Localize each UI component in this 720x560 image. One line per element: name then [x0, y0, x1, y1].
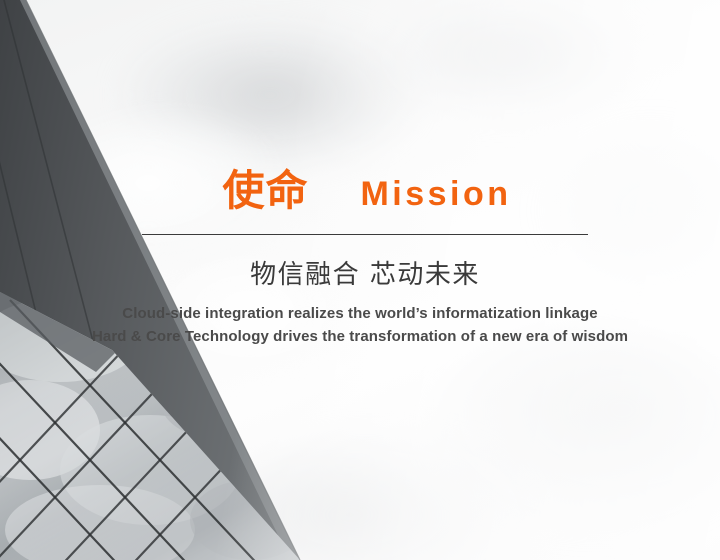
page-title: 使命 Mission	[142, 170, 592, 226]
title-divider-rule	[142, 234, 588, 235]
page-title-chinese: 使命	[222, 170, 308, 212]
tagline-block: Cloud-side integration realizes the worl…	[60, 302, 660, 348]
tagline-line-2: Hard & Core Technology drives the transf…	[60, 325, 660, 348]
page-title-english: Mission	[360, 177, 511, 211]
slide-content: 使命 Mission 物信融合 芯动未来 Cloud-side integrat…	[0, 0, 720, 560]
subtitle-chinese: 物信融合 芯动未来	[142, 258, 588, 292]
mission-slide: 使命 Mission 物信融合 芯动未来 Cloud-side integrat…	[0, 0, 720, 560]
tagline-line-1: Cloud-side integration realizes the worl…	[60, 302, 660, 325]
